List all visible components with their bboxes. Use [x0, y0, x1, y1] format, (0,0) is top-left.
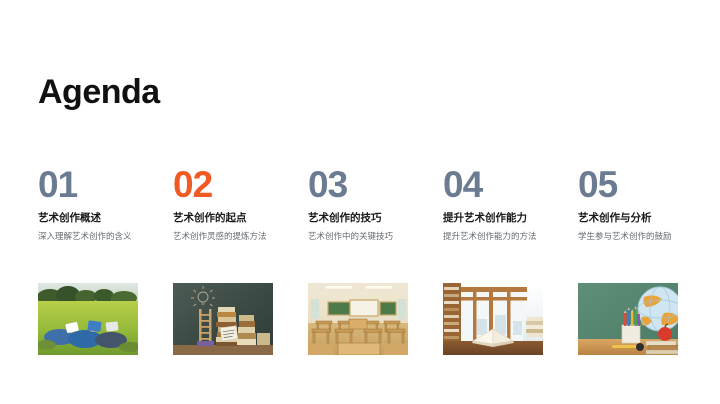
agenda-item-05[interactable]: 05 艺术创作与分析 学生参与艺术创作的鼓励	[578, 165, 678, 243]
open-book-library-window-photo	[443, 283, 543, 355]
item-number-04: 04	[443, 165, 482, 205]
item-number-01: 01	[38, 165, 77, 205]
agenda-thumbnails-row	[38, 283, 698, 355]
globe-pencils-apple-chalkboard-photo	[578, 283, 678, 355]
item-description-02: 艺术创作灵感的提炼方法	[173, 230, 278, 243]
item-description-01: 深入理解艺术创作的含义	[38, 230, 143, 243]
agenda-items-row: 01 艺术创作概述 深入理解艺术创作的含义 02 艺术创作的起点 艺术创作灵感的…	[38, 165, 698, 243]
item-description-05: 学生参与艺术创作的鼓励	[578, 230, 683, 243]
page-title: Agenda	[38, 72, 160, 112]
chalkboard-lightbulb-ladder-books-photo	[173, 283, 273, 355]
item-heading-03: 艺术创作的技巧	[308, 211, 382, 225]
item-description-04: 提升艺术创作能力的方法	[443, 230, 548, 243]
item-number-03: 03	[308, 165, 347, 205]
item-heading-04: 提升艺术创作能力	[443, 211, 527, 225]
item-heading-01: 艺术创作概述	[38, 211, 101, 225]
agenda-slide: Agenda 01 艺术创作概述 深入理解艺术创作的含义 02 艺术创作的起点 …	[0, 0, 720, 404]
item-description-03: 艺术创作中的关键技巧	[308, 230, 413, 243]
item-number-05: 05	[578, 165, 617, 205]
agenda-item-01[interactable]: 01 艺术创作概述 深入理解艺术创作的含义	[38, 165, 138, 243]
item-heading-02: 艺术创作的起点	[173, 211, 247, 225]
item-number-02: 02	[173, 165, 212, 205]
agenda-item-02[interactable]: 02 艺术创作的起点 艺术创作灵感的提炼方法	[173, 165, 273, 243]
children-reading-in-grass-field-photo	[38, 283, 138, 355]
agenda-item-04[interactable]: 04 提升艺术创作能力 提升艺术创作能力的方法	[443, 165, 543, 243]
item-heading-05: 艺术创作与分析	[578, 211, 652, 225]
agenda-item-03[interactable]: 03 艺术创作的技巧 艺术创作中的关键技巧	[308, 165, 408, 243]
empty-classroom-desks-photo	[308, 283, 408, 355]
